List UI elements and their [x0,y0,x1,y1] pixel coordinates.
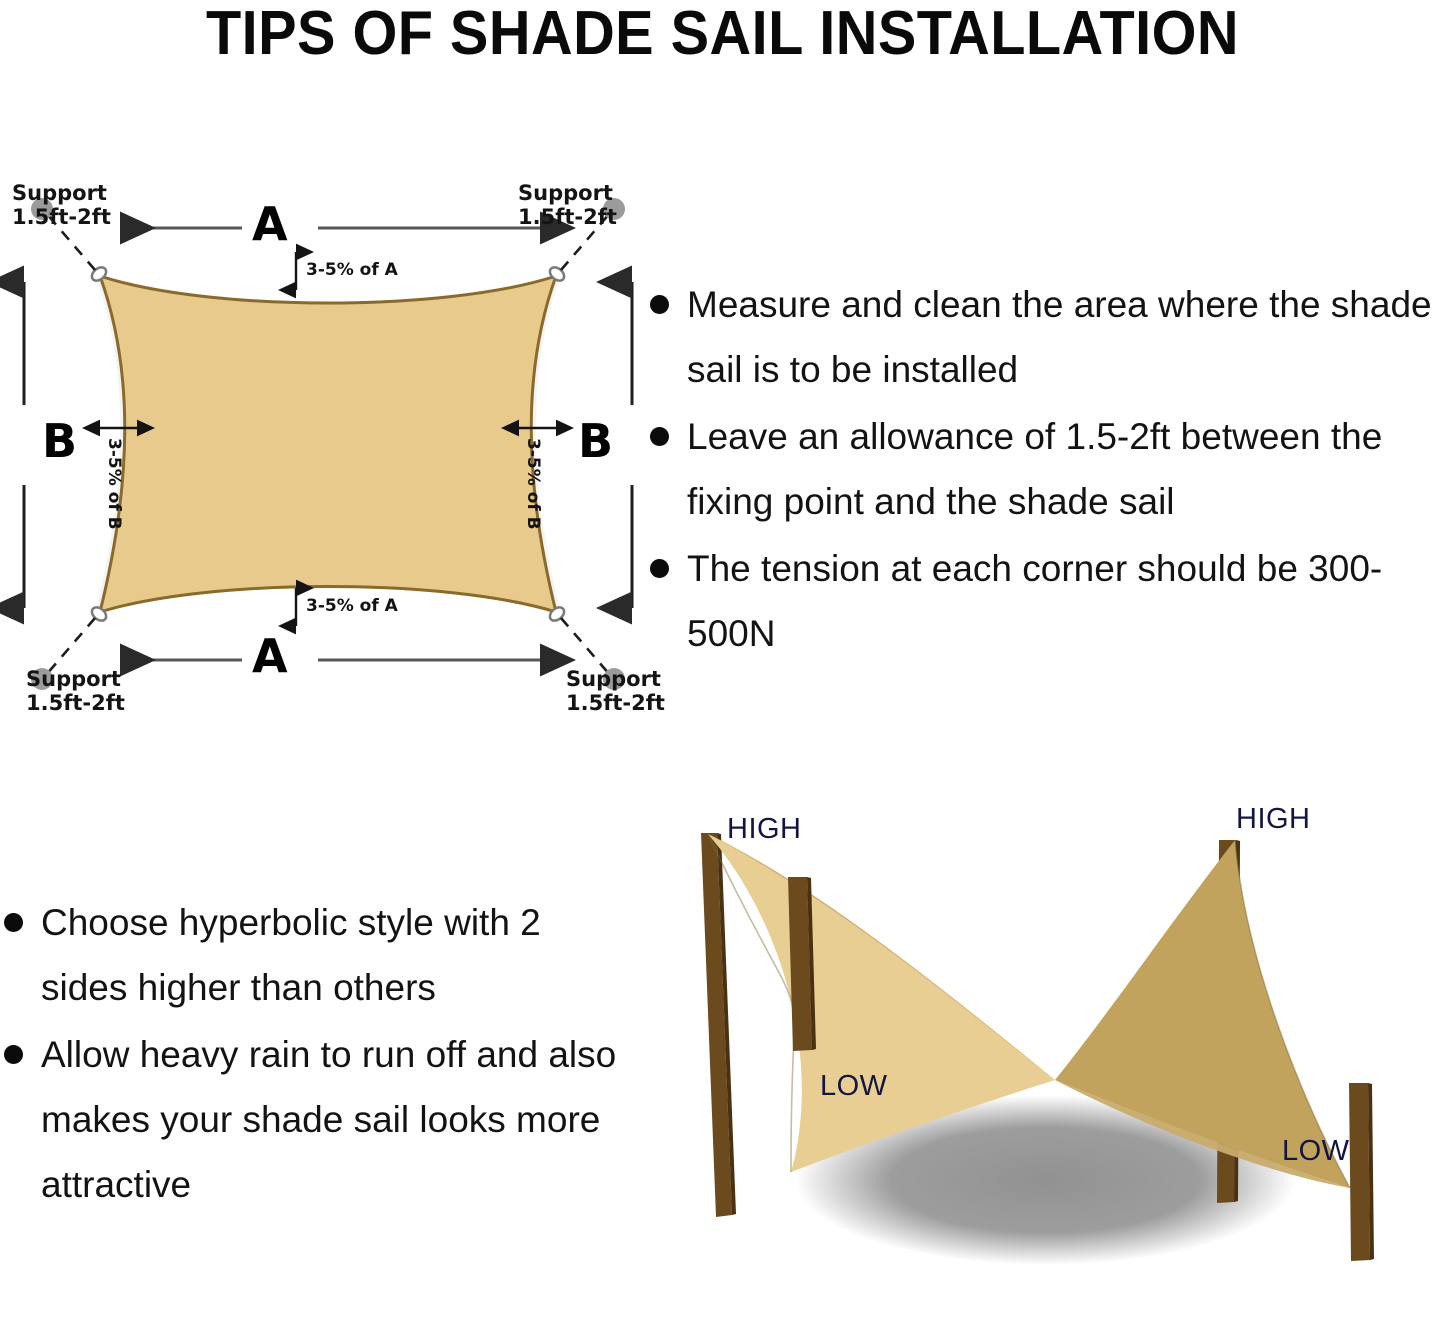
curvature-label-right: 3-5% of B [523,438,543,530]
hyperbolic-style-notes-list: Choose hyperbolic style with 2 sides hig… [4,890,624,1219]
support-label-line1: Support [26,667,121,691]
list-item-text: Leave an allowance of 1.5-2ft between th… [687,404,1445,534]
installation-tips-list: Measure and clean the area where the sha… [650,272,1445,668]
curvature-label-left: 3-5% of B [104,438,124,530]
label-high-right: HIGH [1236,803,1311,836]
list-item: The tension at each corner should be 300… [650,536,1445,666]
list-item: Measure and clean the area where the sha… [650,272,1445,402]
support-label-top-left: Support 1.5ft-2ft [12,182,111,229]
dimension-letter-b-right: B [578,418,613,464]
support-label-line1: Support [12,181,107,205]
label-high-left: HIGH [727,813,802,846]
list-item: Choose hyperbolic style with 2 sides hig… [4,890,624,1020]
list-item-text: Choose hyperbolic style with 2 sides hig… [41,890,624,1020]
dimension-letter-a-bottom: A [252,633,288,679]
bullet-icon [650,427,669,446]
list-item-text: Allow heavy rain to run off and also mak… [41,1022,624,1217]
dimension-letter-b-left: B [42,418,77,464]
rectangular-sail-svg [0,160,660,720]
support-label-top-right: Support 1.5ft-2ft [518,182,617,229]
page-title: TIPS OF SHADE SAIL INSTALLATION [51,0,1395,69]
list-item-text: Measure and clean the area where the sha… [687,272,1445,402]
post-front-right [1349,1083,1374,1261]
hyperbolic-sail-svg [660,780,1445,1319]
bullet-icon [650,295,669,314]
support-label-line2: 1.5ft-2ft [26,692,125,716]
label-low-right: LOW [1282,1135,1350,1168]
post-back-left [701,833,736,1217]
rectangular-sail-diagram: Support 1.5ft-2ft Support 1.5ft-2ft Supp… [0,160,660,720]
support-label-line1: Support [518,181,613,205]
bullet-icon [4,1045,23,1064]
support-label-line2: 1.5ft-2ft [518,206,617,230]
list-item: Leave an allowance of 1.5-2ft between th… [650,404,1445,534]
bullet-icon [650,559,669,578]
dimension-letter-a-top: A [252,201,288,247]
support-label-bottom-right: Support 1.5ft-2ft [566,668,665,715]
support-label-line1: Support [566,667,661,691]
list-item: Allow heavy rain to run off and also mak… [4,1022,624,1217]
support-label-bottom-left: Support 1.5ft-2ft [26,668,125,715]
support-label-line2: 1.5ft-2ft [12,206,111,230]
bullet-icon [4,913,23,932]
curvature-label-bottom: 3-5% of A [306,596,398,616]
list-item-text: The tension at each corner should be 300… [687,536,1445,666]
hyperbolic-sail-illustration: HIGH HIGH LOW LOW [660,780,1445,1319]
sail-shape [100,276,556,612]
support-label-line2: 1.5ft-2ft [566,692,665,716]
label-low-left: LOW [820,1070,888,1103]
curvature-label-top: 3-5% of A [306,260,398,280]
